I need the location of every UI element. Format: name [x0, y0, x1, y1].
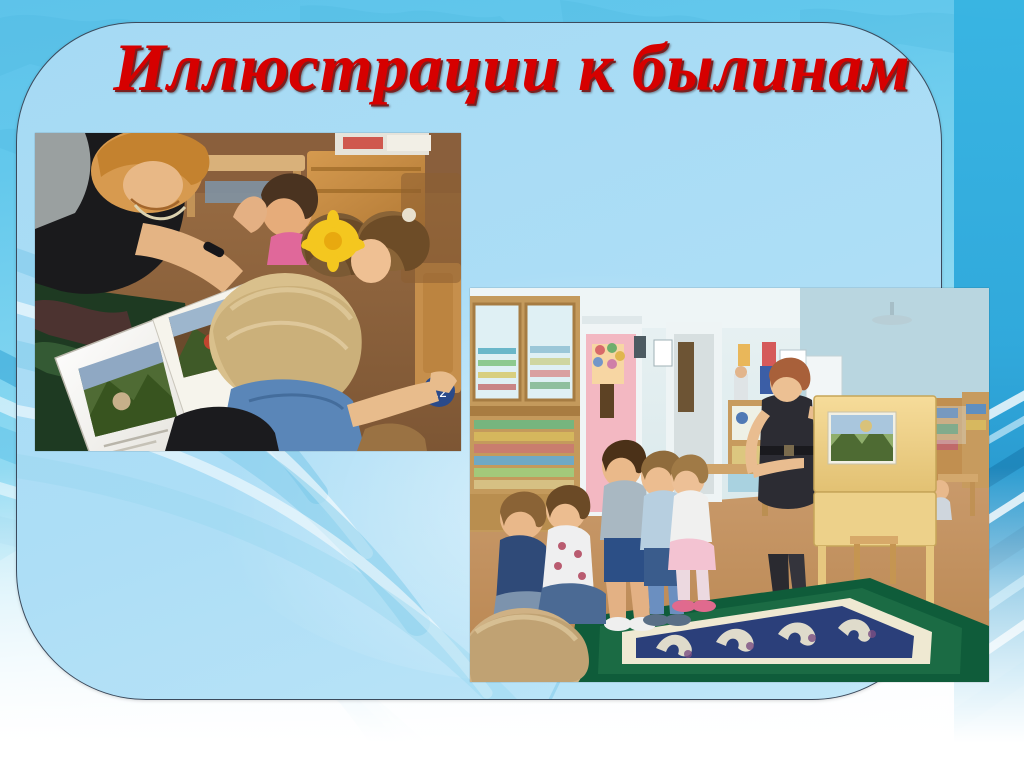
photo-teacher-at-easel [470, 288, 989, 682]
teacher-showing-book-illustration: 12 [35, 133, 461, 451]
photo-teacher-showing-book: 12 [35, 133, 461, 451]
teacher-at-easel-illustration [470, 288, 989, 682]
page-title: Иллюстрации к былинам [0, 30, 1024, 104]
slide: Иллюстрации к былинам [0, 0, 1024, 767]
